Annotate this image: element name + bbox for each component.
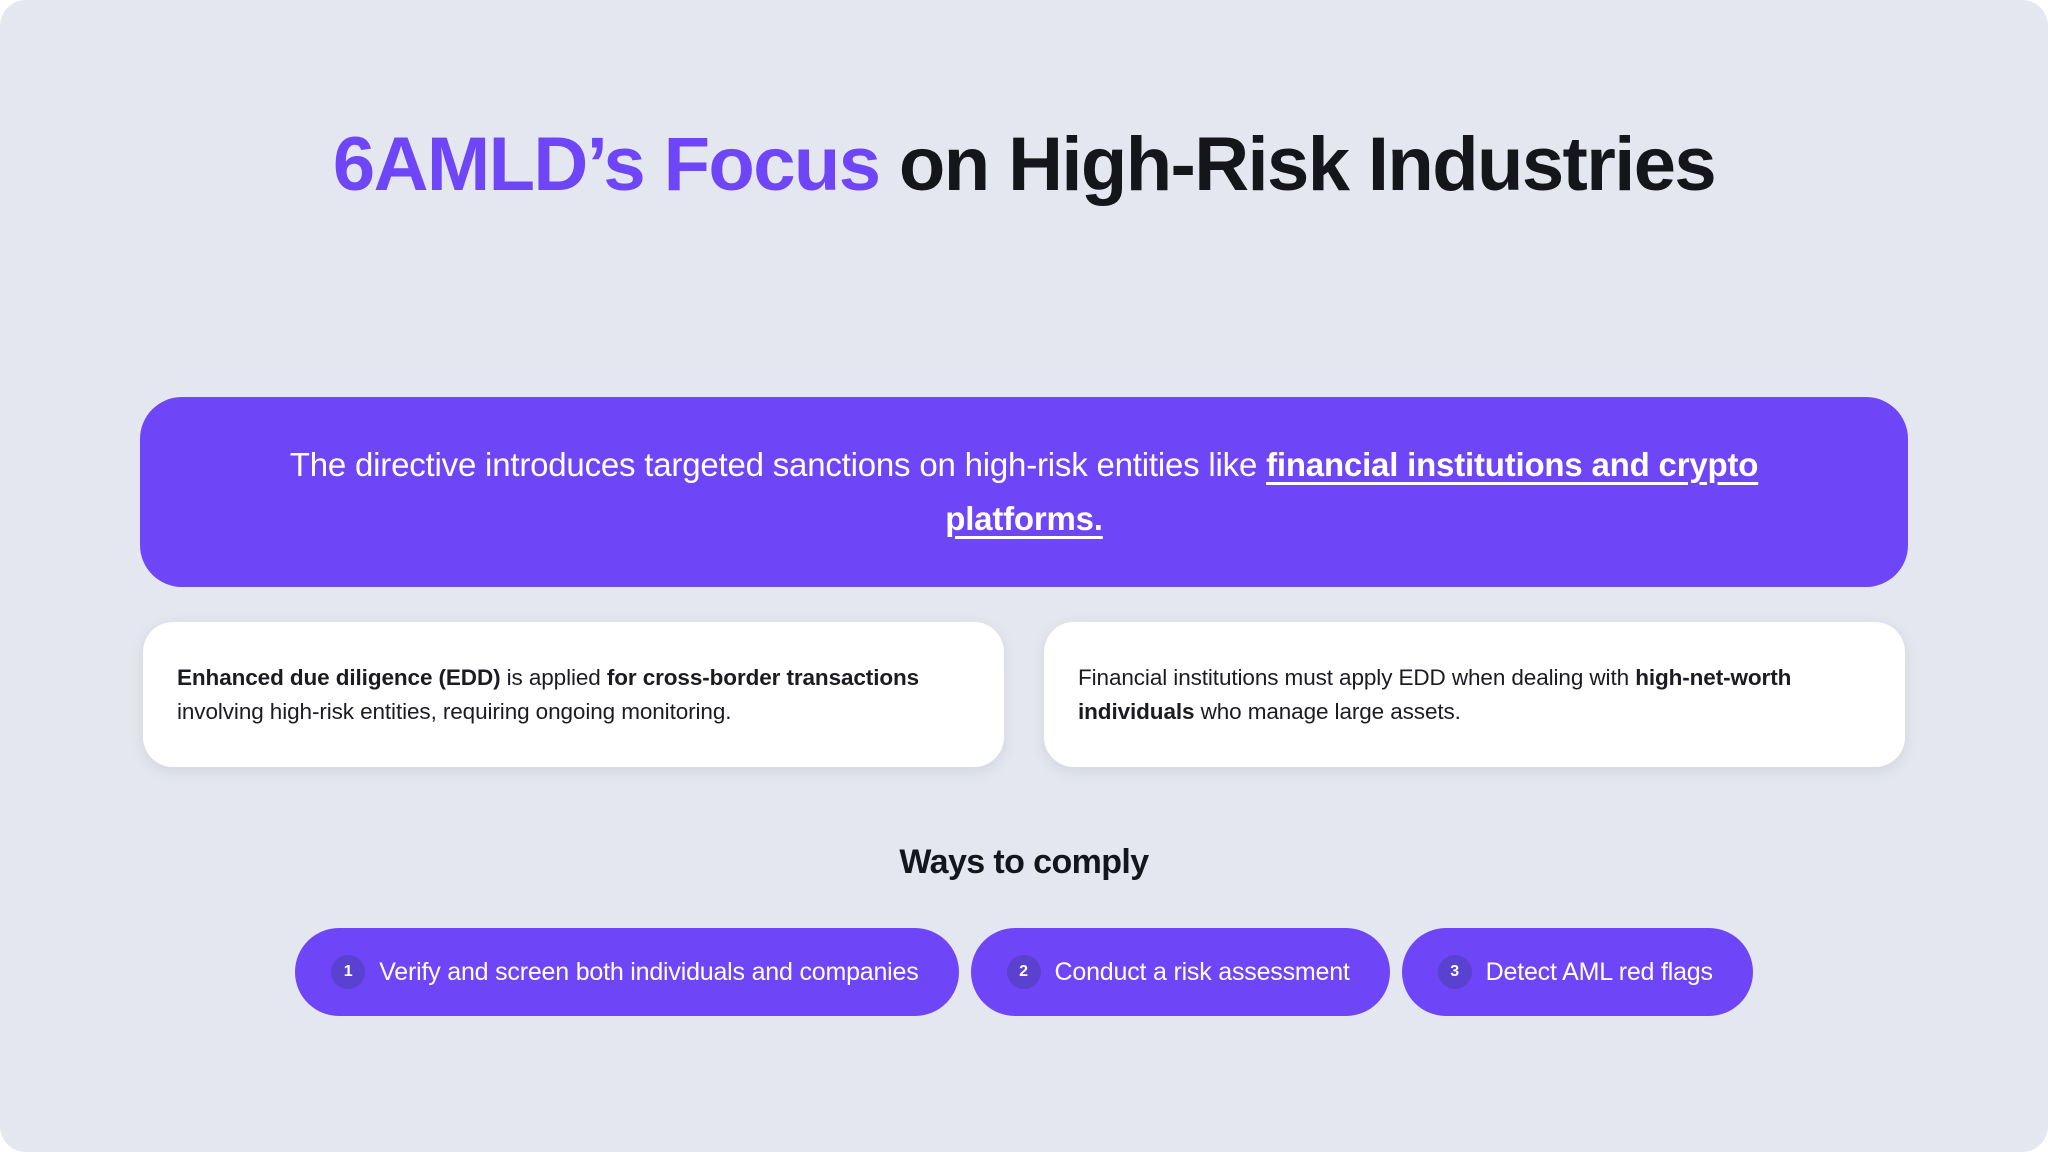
- comply-pill-2[interactable]: 2 Conduct a risk assessment: [971, 928, 1390, 1016]
- edd-cross-border-card: Enhanced due diligence (EDD) is applied …: [143, 622, 1004, 767]
- directive-banner-text: The directive introduces targeted sancti…: [260, 438, 1788, 546]
- title-rest-text: on High-Risk Industries: [879, 122, 1715, 207]
- ways-to-comply-pills: 1 Verify and screen both individuals and…: [0, 928, 2048, 1016]
- title-accent-text: 6AMLD’s Focus: [333, 122, 879, 207]
- card-1-segment-0: Financial institutions must apply EDD wh…: [1078, 665, 1635, 690]
- high-net-worth-card-text: Financial institutions must apply EDD wh…: [1078, 661, 1871, 729]
- card-0-segment-0: Enhanced due diligence (EDD): [177, 665, 501, 690]
- directive-banner: The directive introduces targeted sancti…: [140, 397, 1908, 587]
- info-cards-row: Enhanced due diligence (EDD) is applied …: [143, 622, 1905, 767]
- card-0-segment-2: for cross-border transactions: [607, 665, 919, 690]
- card-1-segment-2: who manage large assets.: [1194, 699, 1460, 724]
- comply-pill-1-number-badge: 1: [331, 955, 365, 989]
- comply-pill-3-label: Detect AML red flags: [1486, 958, 1713, 987]
- edd-cross-border-card-text: Enhanced due diligence (EDD) is applied …: [177, 661, 970, 729]
- comply-pill-1-label: Verify and screen both individuals and c…: [379, 958, 918, 987]
- page-title: 6AMLD’s Focus on High-Risk Industries: [324, 118, 1724, 212]
- comply-pill-2-number-badge: 2: [1007, 955, 1041, 989]
- infographic-canvas: 6AMLD’s Focus on High-Risk Industries Th…: [0, 0, 2048, 1152]
- banner-lead-text: The directive introduces targeted sancti…: [290, 446, 1266, 483]
- comply-pill-1[interactable]: 1 Verify and screen both individuals and…: [295, 928, 958, 1016]
- title-heading: 6AMLD’s Focus on High-Risk Industries: [324, 118, 1724, 212]
- high-net-worth-card: Financial institutions must apply EDD wh…: [1044, 622, 1905, 767]
- comply-pill-2-label: Conduct a risk assessment: [1055, 958, 1350, 987]
- comply-pill-3[interactable]: 3 Detect AML red flags: [1402, 928, 1753, 1016]
- ways-to-comply-heading: Ways to comply: [0, 840, 2048, 884]
- card-0-segment-1: is applied: [501, 665, 607, 690]
- card-0-segment-3: involving high-risk entities, requiring …: [177, 699, 731, 724]
- comply-pill-3-number-badge: 3: [1438, 955, 1472, 989]
